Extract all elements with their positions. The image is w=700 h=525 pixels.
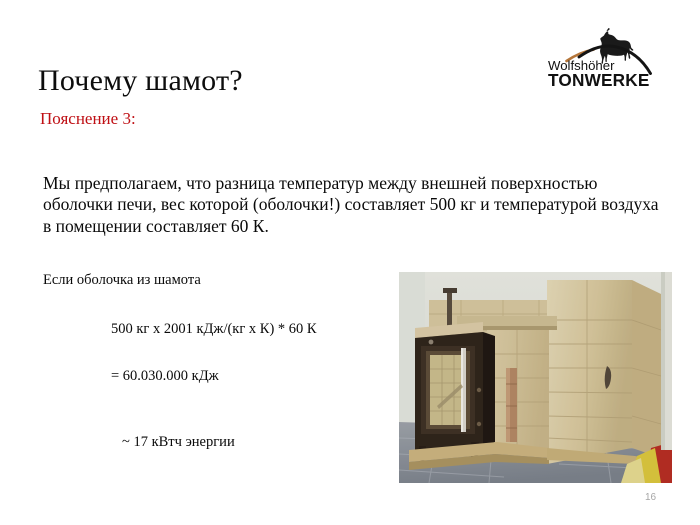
page-title: Почему шамот? — [38, 64, 243, 98]
calc-lead-line: Если оболочка из шамота — [43, 272, 393, 289]
calculation-block: Если оболочка из шамота 500 кг х 2001 кД… — [43, 272, 393, 451]
stove-photo — [399, 272, 672, 483]
slide: Почему шамот? Wolfshöher TONWERKE Поясне… — [0, 0, 700, 525]
company-logo: Wolfshöher TONWERKE — [546, 22, 658, 90]
slide-number: 16 — [645, 492, 656, 504]
calc-energy-line: ~ 17 кВтч энергии — [122, 434, 393, 451]
subtitle-explanation: Пояснение 3: — [40, 109, 136, 129]
logo-text-line2: TONWERKE — [548, 70, 650, 90]
calc-formula-line: 500 кг х 2001 кДж/(кг х К) * 60 К — [111, 321, 393, 338]
calc-result-line: = 60.030.000 кДж — [111, 368, 393, 385]
body-paragraph: Мы предполагаем, что разница температур … — [43, 173, 668, 238]
